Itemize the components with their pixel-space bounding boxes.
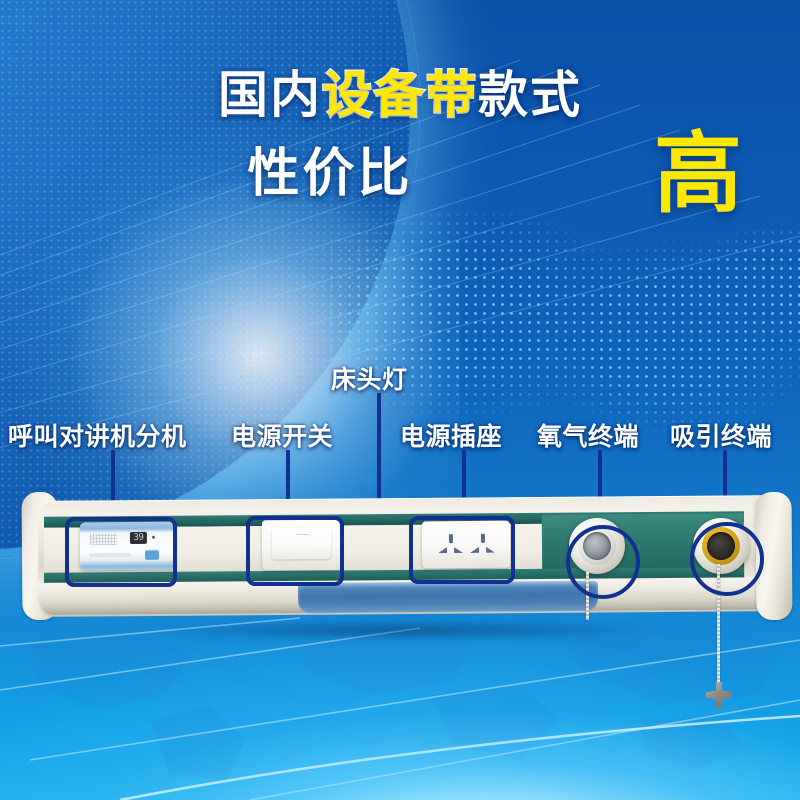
panel-drop-shadow — [32, 620, 772, 646]
callout-label-bed-lamp: 床头灯 — [331, 360, 408, 396]
callout-label-power-switch: 电源开关 — [231, 417, 333, 453]
highlight-box-power-switch — [246, 516, 344, 586]
headline-line1-suffix: 款式 — [478, 67, 582, 123]
headline-emphasis-character: 高 — [654, 130, 742, 218]
background-bottom-highlight — [0, 680, 800, 800]
headline-line1-prefix: 国内 — [218, 67, 322, 123]
callout-label-power-socket: 电源插座 — [400, 417, 502, 453]
headline-line-1: 国内设备带款式 — [0, 70, 800, 120]
highlight-box-nurse-call-intercom — [65, 517, 177, 587]
product-poster: 国内设备带款式 性价比 高 呼叫对讲机分机 电源开关 床头灯 电源插座 氧气终端… — [0, 0, 800, 800]
callout-label-suction-terminal: 吸引终端 — [670, 417, 772, 453]
highlight-circle-suction-terminal — [690, 522, 764, 596]
callout-label-nurse-call-intercom: 呼叫对讲机分机 — [8, 417, 187, 453]
headline-line1-highlight: 设备带 — [322, 67, 478, 123]
bed-lamp-diffuser[interactable] — [298, 581, 598, 613]
callout-label-oxygen-terminal: 氧气终端 — [537, 417, 639, 453]
highlight-circle-oxygen-terminal — [566, 525, 640, 599]
highlight-box-power-socket — [409, 516, 515, 584]
